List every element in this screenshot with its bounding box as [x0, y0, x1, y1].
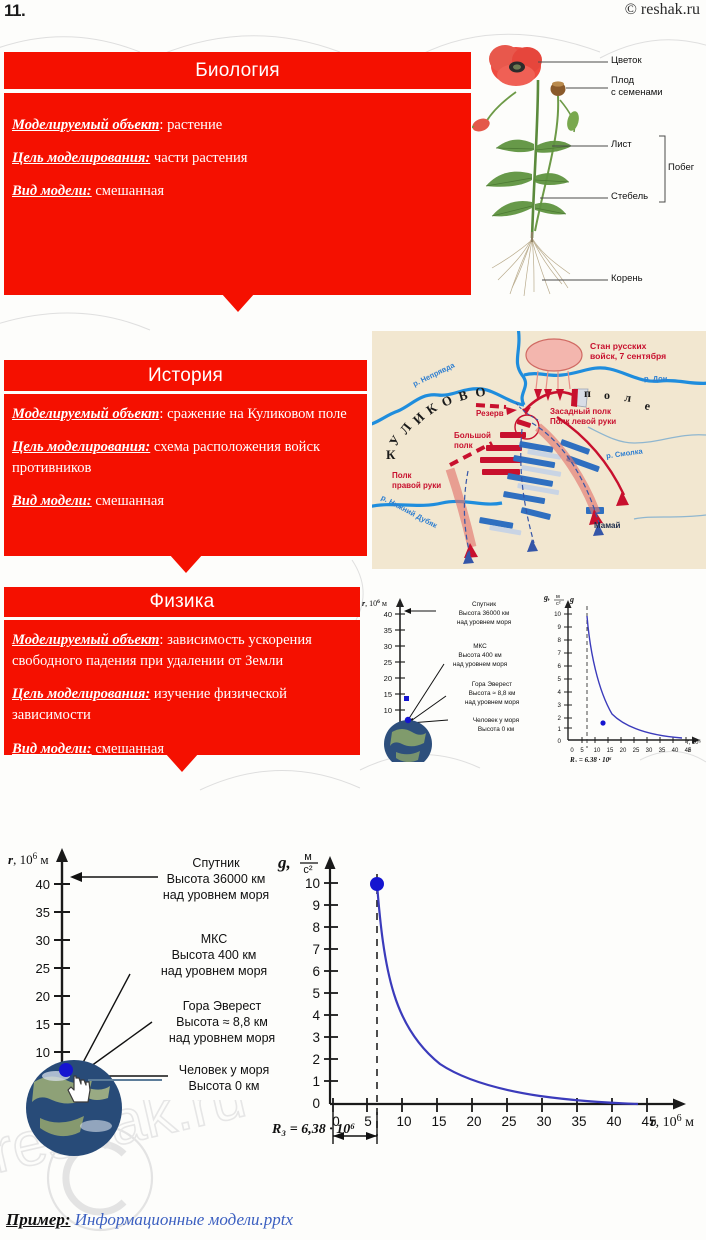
- card-body-biology: Моделируемый объект: растение Цель модел…: [4, 93, 471, 295]
- physics-figure-thumbnail: 403530 252015 10 r, 106 м Спутник Высота…: [356, 592, 706, 762]
- svg-text:r: r: [688, 746, 691, 754]
- svg-text:r, 106 м: r, 106 м: [650, 1113, 694, 1131]
- svg-text:9: 9: [312, 898, 320, 913]
- svg-text:над уровнем моря: над уровнем моря: [465, 699, 520, 706]
- svg-text:15: 15: [36, 1017, 50, 1032]
- svg-text:6: 6: [312, 964, 320, 979]
- svg-text:над уровнем моря: над уровнем моря: [453, 661, 508, 668]
- svg-text:9: 9: [558, 624, 562, 631]
- field-key: Цель моделирования:: [12, 150, 150, 166]
- card-biology: Биология Моделируемый объект: растение Ц…: [4, 52, 471, 295]
- svg-text:о: о: [604, 388, 610, 402]
- battle-map-kulikovo: Стан русских войск, 7 сентября р. Непряв…: [372, 331, 706, 569]
- svg-text:6: 6: [558, 663, 562, 670]
- svg-text:15: 15: [384, 690, 392, 699]
- svg-text:7: 7: [558, 650, 562, 657]
- svg-text:Спутник: Спутник: [192, 856, 240, 870]
- svg-text:30: 30: [36, 933, 50, 948]
- svg-text:35: 35: [384, 626, 392, 635]
- svg-text:15: 15: [431, 1114, 446, 1129]
- svg-text:К: К: [386, 447, 396, 462]
- svg-text:над уровнем моря: над уровнем моря: [457, 619, 512, 626]
- svg-text:с²: с²: [556, 601, 561, 607]
- svg-text:Человек у моря: Человек у моря: [179, 1063, 270, 1077]
- svg-text:3: 3: [558, 702, 562, 709]
- svg-text:30: 30: [536, 1114, 551, 1129]
- svg-text:40: 40: [672, 748, 679, 754]
- svg-text:10: 10: [384, 706, 392, 715]
- field-key: Моделируемый объект: [12, 632, 159, 648]
- svg-text:Высота 400 км: Высота 400 км: [172, 948, 257, 962]
- field-key: Моделируемый объект: [12, 117, 159, 133]
- plant-label-root: Корень: [611, 273, 643, 285]
- field-modeling-goal: Цель моделирования: схема расположения в…: [12, 437, 359, 479]
- svg-text:8: 8: [558, 637, 562, 644]
- svg-text:25: 25: [633, 748, 640, 754]
- svg-text:10: 10: [594, 748, 601, 754]
- svg-text:R₃ = 6,38 · 10⁶: R₃ = 6,38 · 10⁶: [569, 756, 612, 762]
- svg-text:0: 0: [558, 738, 562, 745]
- example-file-link[interactable]: Информационные модели.pptx: [75, 1210, 293, 1229]
- svg-text:К: К: [423, 399, 440, 417]
- svg-text:И: И: [410, 409, 428, 427]
- svg-text:0: 0: [312, 1096, 320, 1111]
- svg-text:2: 2: [558, 715, 562, 722]
- field-key: Вид модели:: [12, 741, 92, 757]
- svg-text:40: 40: [606, 1114, 621, 1129]
- svg-text:Высота ≈ 8,8 км: Высота ≈ 8,8 км: [176, 1015, 268, 1029]
- physics-figure-large: 40 35 30 25 20 15 10 r, 106 м: [0, 826, 706, 1156]
- svg-text:40: 40: [384, 610, 392, 619]
- svg-text:5: 5: [558, 676, 562, 683]
- svg-text:r, 106 м: r, 106 м: [362, 599, 387, 608]
- svg-text:20: 20: [466, 1114, 481, 1129]
- svg-text:15: 15: [607, 748, 614, 754]
- plant-label-stem: Стебель: [611, 191, 648, 203]
- svg-text:10: 10: [305, 876, 320, 891]
- svg-text:Высота ≈ 8,8 км: Высота ≈ 8,8 км: [469, 690, 516, 697]
- plant-label-fruit: Плод с семенами: [611, 75, 663, 99]
- svg-text:30: 30: [384, 642, 392, 651]
- field-modeling-goal: Цель моделирования: изучение физической …: [12, 684, 352, 726]
- svg-text:r, 10⁶: r, 10⁶: [687, 739, 702, 746]
- plant-diagram: Цветок Плод с семенами Лист Стебель Коре…: [472, 26, 706, 318]
- card-title-biology: Биология: [4, 52, 471, 89]
- svg-text:3: 3: [312, 1030, 320, 1045]
- svg-text:Гора Эверест: Гора Эверест: [183, 999, 262, 1013]
- svg-text:35: 35: [659, 748, 666, 754]
- svg-text:над уровнем моря: над уровнем моря: [161, 964, 267, 978]
- field-modeled-object: Моделируемый объект: растение: [12, 115, 463, 136]
- field-key: Вид модели:: [12, 183, 92, 199]
- example-link-row[interactable]: Пример: Информационные модели.pptx: [6, 1210, 293, 1230]
- svg-text:40: 40: [36, 877, 50, 892]
- card-physics: Физика Моделируемый объект: зависимость …: [4, 587, 360, 755]
- card-title-history: История: [4, 360, 367, 391]
- svg-text:Гора Эверест: Гора Эверест: [472, 681, 512, 688]
- plant-label-shoot: Побег: [668, 162, 694, 174]
- svg-text:0: 0: [570, 748, 574, 754]
- svg-text:Л: Л: [397, 420, 415, 437]
- plant-label-leaf: Лист: [611, 139, 632, 151]
- svg-text:4: 4: [558, 689, 562, 696]
- svg-text:м: м: [304, 851, 312, 863]
- plant-label-flower: Цветок: [611, 55, 642, 67]
- svg-text:Высота 36000 км: Высота 36000 км: [459, 610, 509, 617]
- svg-text:5: 5: [364, 1114, 372, 1129]
- svg-text:л: л: [624, 390, 633, 405]
- svg-text:10: 10: [554, 611, 561, 618]
- svg-text:п: п: [584, 386, 591, 400]
- svg-text:20: 20: [36, 989, 50, 1004]
- svg-text:25: 25: [501, 1114, 516, 1129]
- svg-text:Высота 0 км: Высота 0 км: [189, 1079, 260, 1093]
- svg-text:10: 10: [36, 1045, 50, 1060]
- svg-text:8: 8: [312, 920, 320, 935]
- svg-text:О: О: [439, 392, 454, 410]
- svg-text:над уровнем моря: над уровнем моря: [163, 888, 269, 902]
- card-body-physics: Моделируемый объект: зависимость ускорен…: [4, 620, 360, 755]
- field-key: Моделируемый объект: [12, 406, 159, 422]
- svg-text:2: 2: [312, 1052, 320, 1067]
- card-history: История Моделируемый объект: сражение на…: [4, 360, 367, 556]
- field-modeled-object: Моделируемый объект: зависимость ускорен…: [12, 630, 352, 672]
- example-label: Пример:: [6, 1210, 71, 1229]
- field-value: смешанная: [95, 493, 164, 509]
- field-value: смешанная: [95, 183, 164, 199]
- map-label-kulikovo-field: К У Л И К О В О п о л е: [372, 331, 706, 569]
- field-value: части растения: [154, 150, 248, 166]
- field-key: Цель моделирования:: [12, 439, 150, 455]
- svg-text:35: 35: [571, 1114, 586, 1129]
- svg-text:25: 25: [384, 658, 392, 667]
- field-value: смешанная: [95, 741, 164, 757]
- svg-text:4: 4: [312, 1008, 320, 1023]
- svg-text:МКС: МКС: [473, 643, 487, 650]
- svg-text:20: 20: [384, 674, 392, 683]
- flow-arrow-down-icon: [221, 293, 255, 312]
- flow-arrow-down-icon: [169, 554, 203, 573]
- svg-text:Человек у моря: Человек у моря: [473, 717, 520, 724]
- svg-text:r, 106 м: r, 106 м: [8, 851, 49, 867]
- svg-text:5: 5: [580, 748, 584, 754]
- svg-text:Высота 36000 км: Высота 36000 км: [167, 872, 266, 886]
- svg-text:Спутник: Спутник: [472, 601, 496, 608]
- field-modeled-object: Моделируемый объект: сражение на Куликов…: [12, 404, 359, 425]
- svg-text:10: 10: [396, 1114, 411, 1129]
- card-title-physics: Физика: [4, 587, 360, 617]
- svg-text:25: 25: [36, 961, 50, 976]
- copyright-notice: © reshak.ru: [625, 1, 700, 19]
- field-value: сражение на Куликовом поле: [167, 406, 347, 422]
- svg-text:Высота 400 км: Высота 400 км: [458, 652, 501, 659]
- svg-text:над уровнем моря: над уровнем моря: [169, 1031, 275, 1045]
- svg-text:Высота 0 км: Высота 0 км: [478, 726, 514, 733]
- field-key: Цель моделирования:: [12, 686, 150, 702]
- svg-text:е: е: [643, 398, 652, 413]
- svg-text:5: 5: [312, 986, 320, 1001]
- field-model-type: Вид модели: смешанная: [12, 491, 359, 512]
- svg-text:В: В: [457, 387, 470, 404]
- field-model-type: Вид модели: смешанная: [12, 181, 463, 202]
- svg-text:7: 7: [312, 942, 320, 957]
- field-modeling-goal: Цель моделирования: части растения: [12, 148, 463, 169]
- svg-text:м: м: [556, 594, 560, 600]
- svg-text:1: 1: [312, 1074, 320, 1089]
- svg-text:20: 20: [620, 748, 627, 754]
- field-key: Вид модели:: [12, 493, 92, 509]
- svg-text:30: 30: [646, 748, 653, 754]
- svg-text:g,: g,: [543, 593, 550, 602]
- card-body-history: Моделируемый объект: сражение на Куликов…: [4, 394, 367, 556]
- chart-annotation-earth-radius: R₃ = 6,38 · 10⁶: [272, 1122, 355, 1138]
- svg-text:с²: с²: [303, 864, 313, 876]
- page-number: 11.: [4, 1, 25, 21]
- svg-text:g: g: [569, 595, 574, 604]
- svg-text:35: 35: [36, 905, 50, 920]
- svg-text:1: 1: [558, 726, 562, 733]
- svg-text:МКС: МКС: [201, 932, 228, 946]
- svg-text:g,: g,: [277, 853, 291, 872]
- flow-arrow-down-icon: [165, 753, 199, 772]
- field-value: растение: [167, 117, 222, 133]
- svg-text:О: О: [474, 384, 486, 400]
